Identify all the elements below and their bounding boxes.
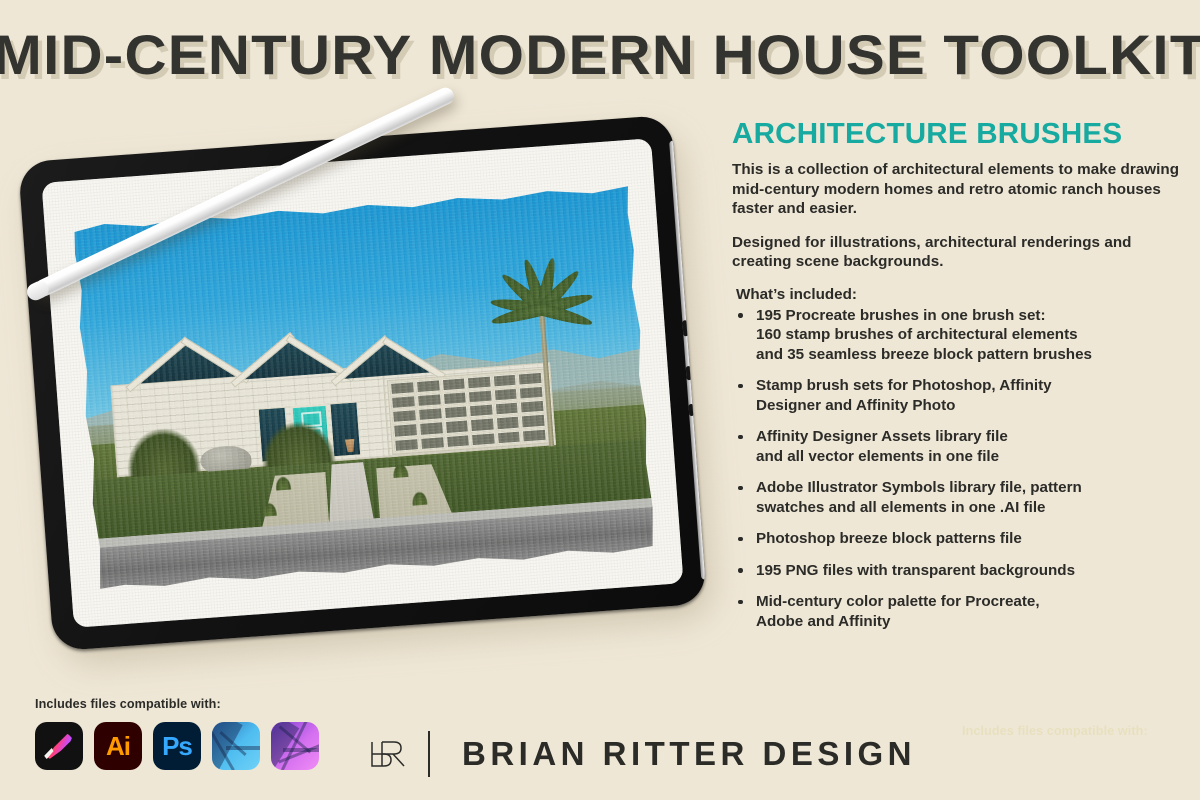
bullet-icon: [738, 486, 743, 491]
photoshop-label: Ps: [153, 722, 201, 770]
adobe-photoshop-icon[interactable]: Ps: [153, 722, 201, 770]
agave-plant: [411, 491, 428, 506]
list-item: Adobe Illustrator Symbols library file, …: [730, 478, 1182, 517]
feature-line: Adobe and Affinity: [756, 612, 1182, 632]
feature-line: 195 PNG files with transparent backgroun…: [756, 561, 1182, 581]
feature-line: Stamp brush sets for Photoshop, Affinity: [756, 376, 1182, 396]
bullet-icon: [738, 384, 743, 389]
page-title: MID-CENTURY MODERN HOUSE TOOLKIT: [0, 22, 1200, 87]
breeze-cell: [391, 396, 415, 410]
feature-list: 195 Procreate brushes in one brush set: …: [730, 306, 1182, 632]
feature-line: Mid-century color palette for Procreate,: [756, 592, 1182, 612]
list-item: Affinity Designer Assets library file an…: [730, 427, 1182, 466]
intro-paragraph-1: This is a collection of architectural el…: [732, 160, 1182, 219]
feature-line: Designer and Affinity Photo: [756, 396, 1182, 416]
adobe-illustrator-icon[interactable]: Ai: [94, 722, 142, 770]
feature-line: 160 stamp brushes of architectural eleme…: [756, 325, 1182, 345]
bullet-icon: [738, 568, 743, 573]
tablet-device: [18, 115, 707, 652]
breeze-cell: [392, 410, 416, 424]
feature-line: and all vector elements in one file: [756, 447, 1182, 467]
app-icon-row: Ai Ps: [35, 722, 319, 770]
info-panel: ARCHITECTURE BRUSHES This is a collectio…: [730, 118, 1182, 643]
breeze-cell: [417, 394, 441, 408]
list-item: Photoshop breeze block patterns file: [730, 529, 1182, 549]
brand-name: BRIAN RITTER DESIGN: [462, 735, 916, 773]
bullet-icon: [738, 600, 743, 605]
breeze-cell: [441, 378, 465, 392]
breeze-cell: [446, 434, 470, 448]
list-item: Stamp brush sets for Photoshop, Affinity…: [730, 376, 1182, 415]
feature-line: swatches and all elements in one .AI fil…: [756, 498, 1182, 518]
intro-line: Designed for illustrations, architectura…: [732, 234, 1017, 251]
bullet-icon: [738, 537, 743, 542]
facet: [226, 746, 260, 750]
shrub-left: [125, 426, 201, 479]
feature-line: Adobe Illustrator Symbols library file, …: [756, 478, 1182, 498]
breeze-cell: [419, 422, 443, 436]
breeze-cell: [445, 420, 469, 434]
poster-canvas: MID-CENTURY MODERN HOUSE TOOLKIT: [0, 0, 1200, 800]
list-item: 195 Procreate brushes in one brush set: …: [730, 306, 1182, 365]
breeze-cell: [444, 406, 468, 420]
section-heading: ARCHITECTURE BRUSHES: [732, 118, 1191, 151]
bullet-icon: [738, 313, 743, 318]
breeze-cell: [394, 438, 418, 452]
gable-3: [322, 327, 448, 385]
feature-line: and 35 seamless breeze block pattern bru…: [756, 345, 1182, 365]
breeze-cell: [420, 436, 444, 450]
feature-line: Affinity Designer Assets library file: [756, 427, 1182, 447]
agave-plant: [275, 475, 292, 490]
tablet-screen[interactable]: [41, 138, 683, 628]
breeze-cell: [443, 392, 467, 406]
affinity-designer-icon[interactable]: [212, 722, 260, 770]
compatible-with-label: Includes files compatible with:: [35, 697, 221, 711]
artwork-torn-edge: [71, 184, 658, 592]
procreate-icon[interactable]: [35, 722, 83, 770]
breeze-cell: [390, 382, 414, 396]
ghost-compatible-with-label: Includes files compatible with:: [962, 724, 1148, 738]
brd-monogram-icon: [368, 736, 410, 772]
feature-line: Photoshop breeze block patterns file: [756, 529, 1182, 549]
whats-included-label: What’s included:: [736, 286, 1182, 303]
breeze-cell: [393, 424, 417, 438]
breeze-cell: [418, 408, 442, 422]
tablet-body: [18, 115, 707, 652]
agave-plant: [392, 463, 409, 478]
list-item: 195 PNG files with transparent backgroun…: [730, 561, 1182, 581]
breeze-cell: [416, 380, 440, 394]
intro-line: This is a collection of architectural el…: [732, 161, 1054, 178]
illustrator-label: Ai: [94, 722, 142, 770]
bullet-icon: [738, 435, 743, 440]
feature-line: 195 Procreate brushes in one brush set:: [756, 306, 1182, 326]
footer-divider: [428, 731, 430, 777]
intro-paragraph-2: Designed for illustrations, architectura…: [732, 233, 1182, 272]
house-illustration: [71, 184, 658, 592]
agave-plant: [260, 502, 277, 517]
list-item: Mid-century color palette for Procreate,…: [730, 592, 1182, 631]
affinity-photo-icon[interactable]: [271, 722, 319, 770]
